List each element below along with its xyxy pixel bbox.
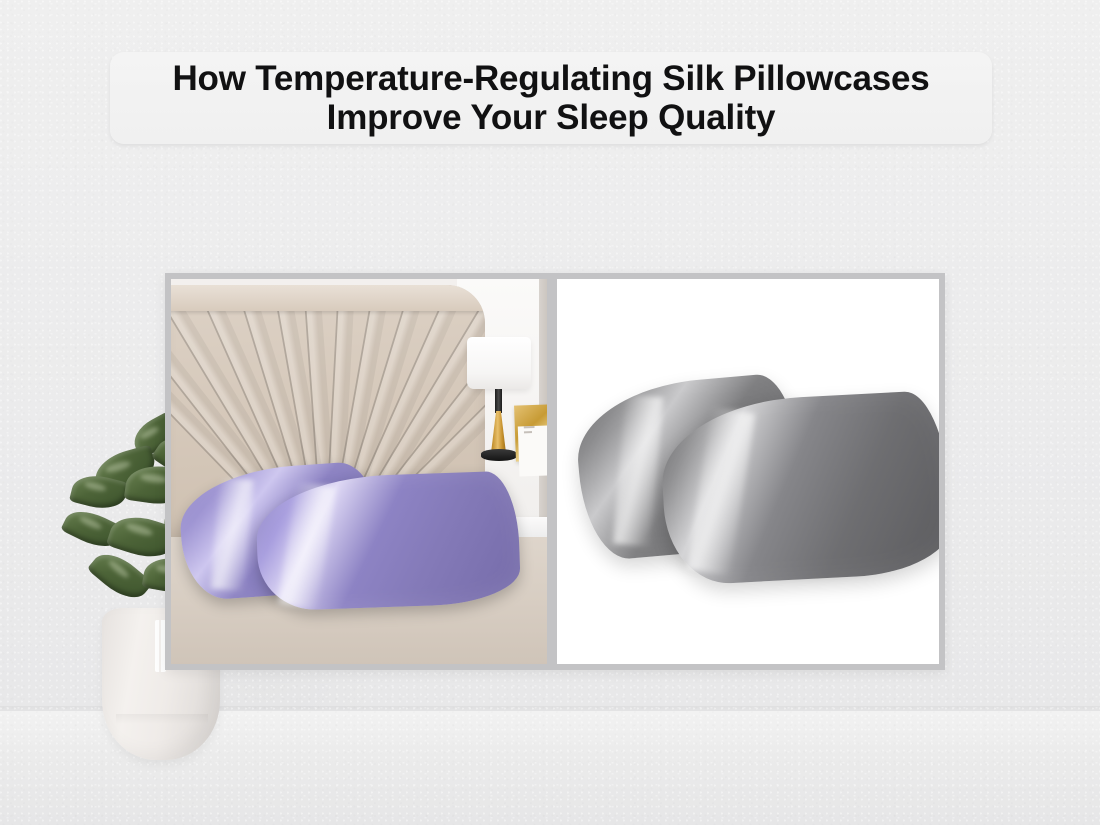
pillow-sheen [278, 481, 337, 610]
page-title: How Temperature-Regulating Silk Pillowca… [110, 59, 992, 137]
picture-frame-mat [518, 425, 547, 476]
purple-silk-pillowcases-on-bed[interactable] [171, 279, 547, 664]
panel-divider [547, 279, 557, 664]
purple-pillowcase-front [255, 470, 521, 611]
gold-picture-frame [514, 404, 547, 461]
article-title-card: How Temperature-Regulating Silk Pillowca… [110, 52, 992, 144]
pillow-sheen [687, 407, 756, 576]
pillow-sheen [613, 394, 664, 547]
pillow-sheen [210, 477, 254, 592]
table-lamp-neck [495, 389, 502, 413]
gray-silk-pillowcases-product-shot[interactable] [557, 279, 939, 664]
headboard-top-rail [171, 285, 485, 311]
table-lamp-shade [467, 337, 531, 389]
table-lamp-base [481, 449, 517, 461]
product-image-frame[interactable] [165, 273, 945, 670]
picture-frame-text [524, 426, 542, 436]
